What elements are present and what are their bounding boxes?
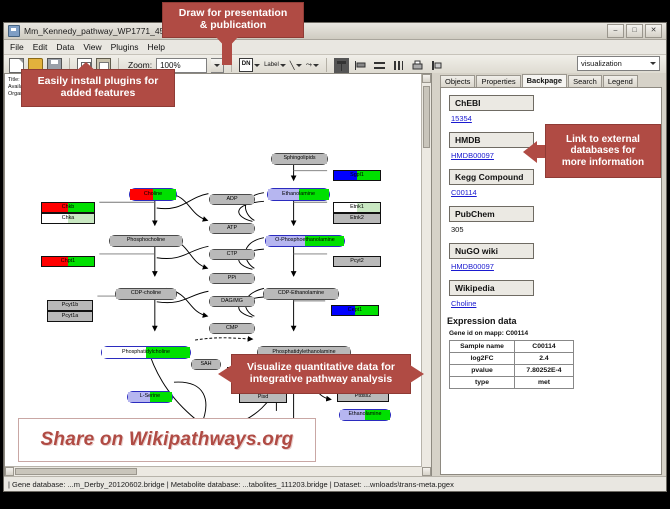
metabolite-node-phosphatidylcholine[interactable]: Phosphatidylcholine [101,346,191,359]
expression-row: typemet [450,377,574,389]
node-label: CDP-choline [131,291,161,296]
visualization-select-value: visualization [581,59,622,68]
expression-row: log2FC2.4 [450,353,574,365]
expression-row: pvalue7.80252E-4 [450,365,574,377]
node-label: Pcyt1b [62,303,78,308]
callout-visualize-text: Visualize quantitative data for integrat… [247,362,395,386]
minimize-button[interactable]: – [607,24,624,38]
node-label: Choline [144,192,162,197]
metabolite-node-ethanolamine[interactable]: Ethanolamine [339,409,391,421]
print-icon[interactable] [410,58,425,73]
node-label: Cept1 [348,308,362,313]
canvas-hscroll-thumb[interactable] [15,468,137,475]
pathway-canvas[interactable]: Title: Availa Organi [4,73,432,477]
tab-legend[interactable]: Legend [603,75,638,87]
database-link-wikipedia[interactable]: Choline [451,299,661,308]
expression-value: 2.4 [515,353,574,365]
gene-node-pisd[interactable]: Pisd [239,392,287,403]
node-label: Phosphocholine [127,238,165,243]
line-tool[interactable]: ╲ [290,61,302,70]
canvas-vertical-scrollbar[interactable] [421,74,431,476]
metabolite-node-o-phosphoethanolamine[interactable]: O-Phosphoethanolamine [265,235,345,247]
chevron-down-icon [650,62,656,65]
node-label: CDP-Ethanolamine [278,291,324,296]
callout-draw-pointer [216,37,238,49]
gene-node-chkb[interactable]: Chkb [41,202,95,213]
database-header-kegg-compound: Kegg Compound [449,169,534,185]
database-header-wikipedia: Wikipedia [449,280,534,296]
node-label: DAG/MG [221,299,243,304]
metabolite-node-choline[interactable]: Choline [129,188,177,201]
callout-draw-for-publication: Draw for presentation & publication [163,3,303,37]
group-icon[interactable] [391,58,406,73]
align-left-icon[interactable] [353,58,368,73]
node-label: Sphingolipids [283,156,315,161]
chevron-down-icon[interactable] [313,64,319,67]
label-tool[interactable]: Label [264,62,286,68]
database-value-pubchem: 305 [451,225,661,234]
callout-visualize-pointer-left [218,365,232,383]
database-link-nugo-wiki[interactable]: HMDB00097 [451,262,661,271]
expression-key: log2FC [450,353,515,365]
scroll-left-button[interactable] [5,467,14,476]
callout-plugins-text: Easily install plugins for added feature… [38,76,159,100]
menu-item-file[interactable]: File [10,42,24,52]
chevron-down-icon[interactable] [254,64,260,67]
node-label: ATP [227,226,237,231]
expression-data-table: Sample nameC00114log2FC2.4pvalue7.80252E… [449,340,574,389]
menu-item-data[interactable]: Data [56,42,74,52]
menu-item-help[interactable]: Help [148,42,165,52]
gene-node-cept1[interactable]: Cept1 [331,305,379,316]
callout-links-text: Link to external databases for more info… [562,134,644,168]
menu-bar: File Edit Data View Plugins Help [4,40,666,55]
node-label: PPi [228,276,236,281]
database-header-pubchem: PubChem [449,206,534,222]
node-label: Pisd [258,395,269,400]
callout-draw-text: Draw for presentation & publication [179,8,288,32]
callout-visualize-data: Visualize quantitative data for integrat… [232,355,410,393]
node-label: Ethanolamine [282,192,315,197]
gene-node-pcyt1a[interactable]: Pcyt1a [47,311,93,322]
tab-properties[interactable]: Properties [476,75,520,87]
tab-backpage[interactable]: Backpage [522,74,567,87]
status-bar: | Gene database: ...m_Derby_20120602.bri… [4,476,666,491]
expression-key: type [450,377,515,389]
database-header-hmdb: HMDB [449,132,534,148]
expression-key: pvalue [450,365,515,377]
chevron-down-icon[interactable] [280,64,286,67]
anchor-icon: ⤳ [306,60,312,70]
database-header-nugo-wiki: NuGO wiki [449,243,534,259]
node-label: L-Serine [140,394,160,399]
expression-row: Sample nameC00114 [450,341,574,353]
node-label: Pcyt1a [62,314,78,319]
metabolite-node-ppi[interactable]: PPi [209,273,255,284]
callout-install-plugins: Easily install plugins for added feature… [22,70,174,106]
node-label: Pcyt2 [350,259,363,264]
metabolite-node-cdp-choline[interactable]: CDP-choline [115,288,177,300]
tab-search[interactable]: Search [568,75,602,87]
node-label: ADP [226,197,237,202]
metabolite-node-sah[interactable]: SAH [191,359,221,370]
window-controls: – □ ✕ [607,24,662,38]
node-label: CMP [226,326,238,331]
callout-visualize-pointer-right [410,365,424,383]
database-link-kegg-compound[interactable]: C00114 [451,188,661,197]
callout-external-links: Link to external databases for more info… [546,125,660,177]
zoom-label: Zoom: [128,60,152,70]
maximize-button[interactable]: □ [626,24,643,38]
database-header-chebi: ChEBI [449,95,534,111]
toolbar-divider [326,58,327,72]
expression-key: Sample name [450,341,515,353]
canvas-horizontal-scrollbar[interactable] [5,466,422,476]
metabolite-node-ctp[interactable]: CTP [209,249,255,260]
metabolite-node-cmp[interactable]: CMP [209,323,255,334]
node-label: Sgpl1 [350,173,364,178]
metabolite-node-atp[interactable]: ATP [209,223,255,234]
metabolite-node-l-serine[interactable]: L-Serine [127,391,173,403]
close-button[interactable]: ✕ [645,24,662,38]
node-label: CTP [227,252,238,257]
side-panel-tabs: Objects Properties Backpage Search Legen… [440,75,662,87]
node-label: Chka [62,216,75,221]
window-titlebar: Mm_Kennedy_pathway_WP1771_45176.gpml – □… [4,23,666,40]
menu-item-plugins[interactable]: Plugins [111,42,139,52]
distribute-icon[interactable] [372,58,387,73]
database-link-chebi[interactable]: 15354 [451,114,661,123]
expression-value: 7.80252E-4 [515,365,574,377]
metabolite-node-adp[interactable]: ADP [209,194,255,205]
node-label: O-Phosphoethanolamine [275,238,335,243]
datanode-tool[interactable]: DN [239,58,260,72]
gene-node-chka[interactable]: Chka [41,213,95,224]
status-bar-text: | Gene database: ...m_Derby_20120602.bri… [8,480,454,489]
node-label: Phosphatidylcholine [122,350,170,355]
node-label: Chkb [62,205,75,210]
scroll-up-button[interactable] [422,74,431,83]
expression-data-heading: Expression data [447,316,661,326]
callout-plugins-pointer [73,62,99,74]
chevron-down-icon[interactable] [296,64,302,67]
gene-node-pcyt2[interactable]: Pcyt2 [333,256,381,267]
expression-value: met [515,377,574,389]
gene-node-etnk2[interactable]: Etnk2 [333,213,381,224]
align-center-icon[interactable] [334,58,349,73]
visualization-select[interactable]: visualization [577,56,660,71]
canvas-vscroll-thumb[interactable] [423,86,430,148]
metabolite-node-sphingolipids[interactable]: Sphingolipids [271,153,328,165]
node-label: Etnk2 [350,216,364,221]
chevron-down-icon [214,64,220,67]
callout-links-pointer [523,141,537,163]
tab-objects[interactable]: Objects [440,75,475,87]
gene-node-sgpl1[interactable]: Sgpl1 [333,170,381,181]
anchor-tool[interactable]: ⤳ [306,60,319,70]
gene-node-pcyt1b[interactable]: Pcyt1b [47,300,93,311]
callout-share-text: Share on Wikipathways.org [41,429,294,451]
gene-id-on-mapp: Gene id on mapp: C00114 [449,330,661,337]
node-label: Chpt1 [61,259,75,264]
order-icon[interactable] [429,58,444,73]
node-label: Ptdss2 [355,394,371,399]
expression-value: C00114 [515,341,574,353]
database-links-list: ChEBI15354HMDBHMDB00097Kegg CompoundC001… [441,88,661,308]
metabolite-node-ethanolamine[interactable]: Ethanolamine [267,188,330,201]
metabolite-node-phosphocholine[interactable]: Phosphocholine [109,235,183,247]
node-label: Etnk1 [350,205,364,210]
menu-item-view[interactable]: View [83,42,101,52]
gene-node-etnk1[interactable]: Etnk1 [333,202,381,213]
label-tool-label: Label [264,62,279,68]
node-label: SAH [200,362,211,367]
node-label: Ethanolamine [349,412,382,417]
scroll-down-button[interactable] [422,467,431,476]
metabolite-node-dag-mg[interactable]: DAG/MG [209,296,255,307]
line-icon: ╲ [290,61,295,70]
pathvisio-icon [8,25,20,37]
menu-item-edit[interactable]: Edit [33,42,48,52]
callout-share-wikipathways: Share on Wikipathways.org [18,418,316,462]
datanode-icon: DN [239,58,253,72]
metabolite-node-cdp-ethanolamine[interactable]: CDP-Ethanolamine [263,288,339,300]
gene-node-chpt1[interactable]: Chpt1 [41,256,95,267]
